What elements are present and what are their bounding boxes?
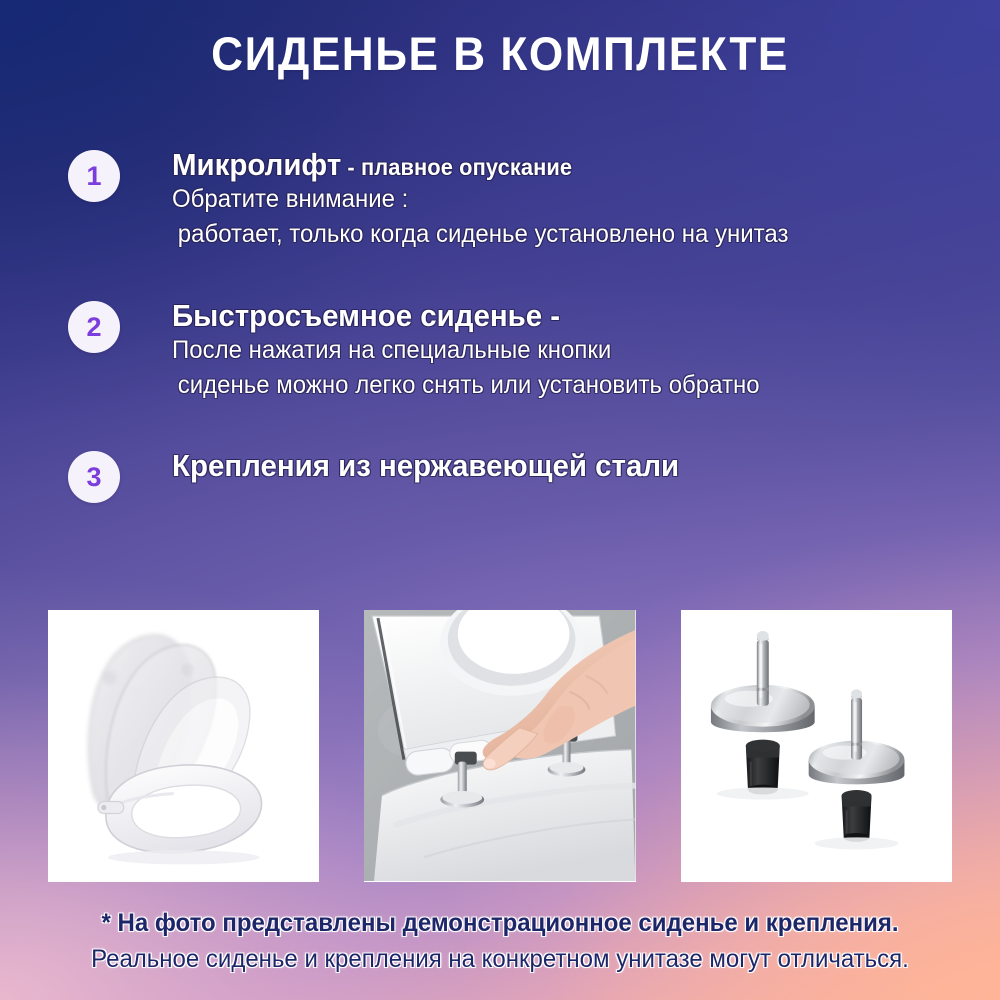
feature-line-2-2: сиденье можно легко снять или установить…: [172, 368, 955, 403]
feature-number-badge-2: 2: [68, 301, 120, 353]
stainless-fixings-photo: [681, 610, 952, 882]
toilet-seat-softclose-photo: [48, 610, 319, 882]
feature-text-3: Крепления из нержавеющей стали: [172, 449, 988, 483]
footer-disclaimer: * На фото представлены демонстрационное …: [0, 906, 1000, 977]
feature-item-1: 1 Микролифт - плавное опускание Обратите…: [68, 148, 988, 251]
feature-headline-3: Крепления из нержавеющей стали: [172, 449, 947, 483]
quick-release-illustration: [364, 610, 635, 881]
feature-headline-main-1: Микролифт: [172, 147, 341, 182]
feature-headline-sub-1: - плавное опускание: [341, 154, 572, 180]
feature-number-badge-1: 1: [68, 150, 120, 202]
page-title: СИДЕНЬЕ В КОМПЛЕКТЕ: [30, 26, 970, 81]
photo-gallery: [48, 610, 952, 882]
feature-line-2-1: После нажатия на специальные кнопки: [172, 333, 955, 368]
stainless-fixings-illustration: [681, 610, 952, 881]
feature-number-badge-3: 3: [68, 451, 120, 503]
feature-headline-1: Микролифт - плавное опускание: [172, 148, 947, 182]
feature-headline-main-2: Быстросъемное сиденье -: [172, 298, 560, 333]
feature-list: 1 Микролифт - плавное опускание Обратите…: [68, 148, 988, 509]
feature-text-2: Быстросъемное сиденье - После нажатия на…: [172, 299, 988, 402]
feature-headline-main-3: Крепления из нержавеющей стали: [172, 448, 679, 483]
toilet-seat-softclose-illustration: [48, 610, 319, 881]
feature-item-3: 3 Крепления из нержавеющей стали: [68, 449, 988, 509]
feature-text-1: Микролифт - плавное опускание Обратите в…: [172, 148, 988, 251]
footer-line-1: * На фото представлены демонстрационное …: [20, 906, 980, 942]
promo-poster: СИДЕНЬЕ В КОМПЛЕКТЕ 1 Микролифт - плавно…: [0, 0, 1000, 1000]
footer-line-2: Реальное сиденье и крепления на конкретн…: [20, 942, 980, 978]
feature-line-1-1: Обратите внимание :: [172, 182, 955, 217]
feature-item-2: 2 Быстросъемное сиденье - После нажатия …: [68, 299, 988, 402]
feature-headline-2: Быстросъемное сиденье -: [172, 299, 947, 333]
feature-line-1-2: работает, только когда сиденье установле…: [172, 217, 955, 252]
seat-quick-release-photo: [364, 610, 635, 882]
